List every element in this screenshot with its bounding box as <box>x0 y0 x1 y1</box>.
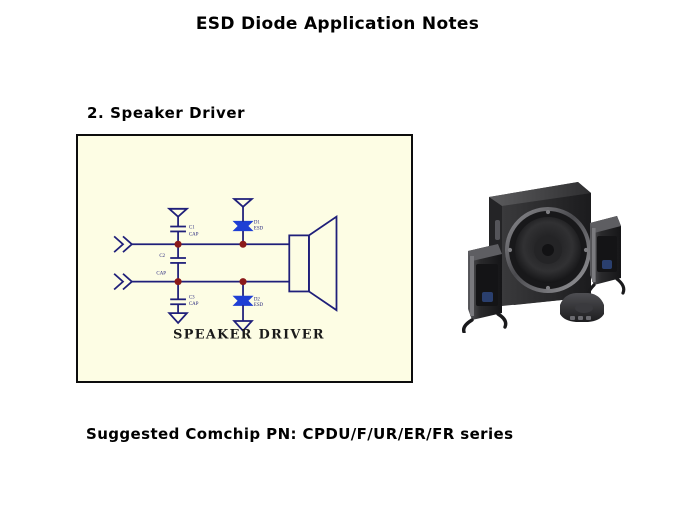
cap-top-ref: C1 <box>189 225 195 230</box>
junction-dot <box>175 241 182 248</box>
input-bottom-chevron-icon <box>114 274 132 290</box>
caption: Suggested Comchip PN: CPDU/F/UR/ER/FR se… <box>86 425 513 443</box>
cap-bottom-value: CAP <box>189 302 199 307</box>
junction-dot <box>239 241 246 248</box>
tvs-diode-bottom-value: ESD <box>254 303 264 308</box>
tvs-diode-top-value: ESD <box>254 226 264 231</box>
speaker-driver-schematic: C1 CAP C2 CAP C3 CAP D1 ES <box>78 136 411 381</box>
cap-middle-value: CAP <box>156 272 166 277</box>
cap-bottom <box>169 282 187 323</box>
schematic-label: SPEAKER DRIVER <box>173 328 325 343</box>
cap-top <box>169 209 187 244</box>
junction-dot <box>239 278 246 285</box>
cap-bottom-ref: C3 <box>189 295 195 300</box>
tvs-diode-top-ref: D1 <box>254 221 261 226</box>
schematic-panel: C1 CAP C2 CAP C3 CAP D1 ES <box>76 134 413 383</box>
page-title: ESD Diode Application Notes <box>0 14 675 34</box>
tvs-diode-bottom-ref: D2 <box>254 297 261 302</box>
speaker-symbol-icon <box>289 217 336 310</box>
tvs-diode-bottom <box>234 282 252 331</box>
input-top-chevron-icon <box>114 236 132 252</box>
cap-top-value: CAP <box>189 232 199 237</box>
speaker-system-illustration <box>452 168 632 333</box>
cap-middle <box>170 244 186 281</box>
cap-middle-ref: C2 <box>159 254 165 259</box>
product-photo <box>452 168 632 333</box>
subwoofer <box>489 182 591 306</box>
control-pod <box>560 293 604 322</box>
tvs-diode-top <box>234 199 252 244</box>
junction-dot <box>175 278 182 285</box>
section-heading: 2. Speaker Driver <box>87 104 245 122</box>
